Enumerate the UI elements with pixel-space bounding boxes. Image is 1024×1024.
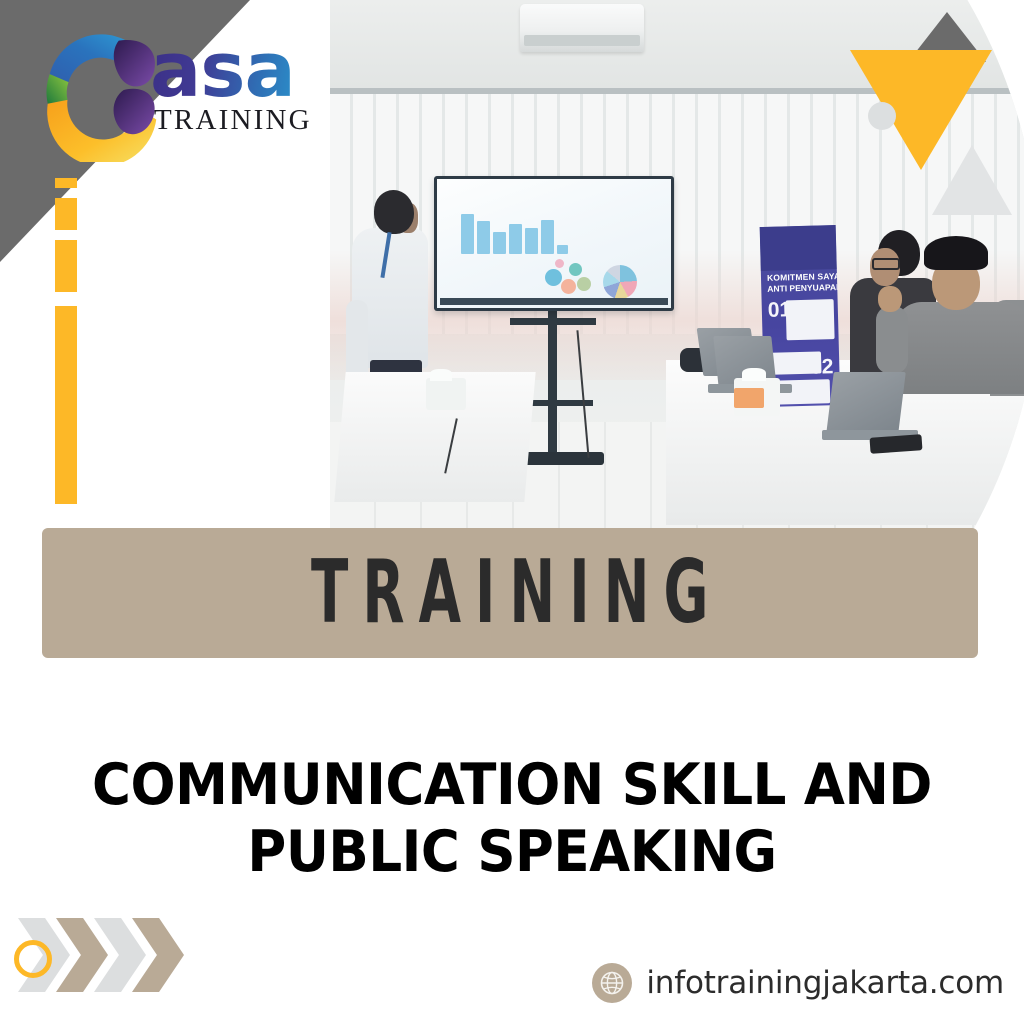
circle-icon-gray: [868, 102, 896, 130]
circle-outline-icon-yellow: [14, 940, 52, 978]
photo-banner-card-2: [769, 351, 822, 374]
photo-air-conditioner: [520, 4, 644, 52]
page-title-line-1: COMMUNICATION SKILL AND: [36, 752, 988, 819]
brand-logo[interactable]: asa TRAINING: [28, 12, 312, 162]
photo-participant-2-body: [894, 302, 1024, 394]
photo-participant-2-arm: [876, 306, 908, 374]
page-title: COMMUNICATION SKILL AND PUBLIC SPEAKING: [0, 752, 1024, 887]
training-banner-label: TRAINING: [297, 543, 722, 644]
dash-mark-2: [55, 198, 77, 230]
brand-wordmark: asa TRAINING: [150, 37, 312, 137]
brand-name: asa: [150, 37, 295, 102]
photo-banner-line2: ANTI PENYUAPAN: [767, 282, 833, 294]
photo-banner-card-1: [786, 299, 835, 340]
photo-tissue-box-right: [734, 378, 780, 416]
globe-icon: [592, 963, 632, 1003]
website-url[interactable]: infotrainingjakarta.com: [646, 965, 1004, 1001]
photo-participant-1-glasses: [872, 258, 900, 270]
website-footer[interactable]: infotrainingjakarta.com: [592, 963, 1004, 1003]
triangle-up-icon-light: [932, 145, 1012, 215]
photo-laptop-3: [826, 372, 906, 434]
photo-banner-line1: KOMITMEN SAYA: [767, 271, 833, 283]
brand-tagline: TRAINING: [154, 104, 312, 137]
photo-participant-2-hand: [878, 286, 902, 312]
photo-banner-header: [760, 225, 837, 271]
training-banner: TRAINING: [42, 528, 978, 658]
photo-presenter-head: [374, 190, 414, 234]
dash-mark-3: [55, 240, 77, 292]
photo-display-screen: [434, 176, 674, 311]
photo-participant-2-hair: [924, 236, 988, 270]
photo-tissue-box-left: [426, 378, 466, 410]
photo-dashboard-slide: [437, 179, 671, 308]
page-title-line-2: PUBLIC SPEAKING: [36, 819, 988, 886]
dash-mark-4: [55, 306, 77, 504]
photo-tv-stand-pole: [548, 311, 557, 461]
promotional-poster: KOMITMEN SAYA ANTI PENYUAPAN 01 02: [0, 0, 1024, 1024]
photo-tv-stand-crossbar: [510, 318, 596, 325]
globe-icon-glyph: [598, 969, 626, 997]
dash-mark-1: [55, 178, 77, 188]
